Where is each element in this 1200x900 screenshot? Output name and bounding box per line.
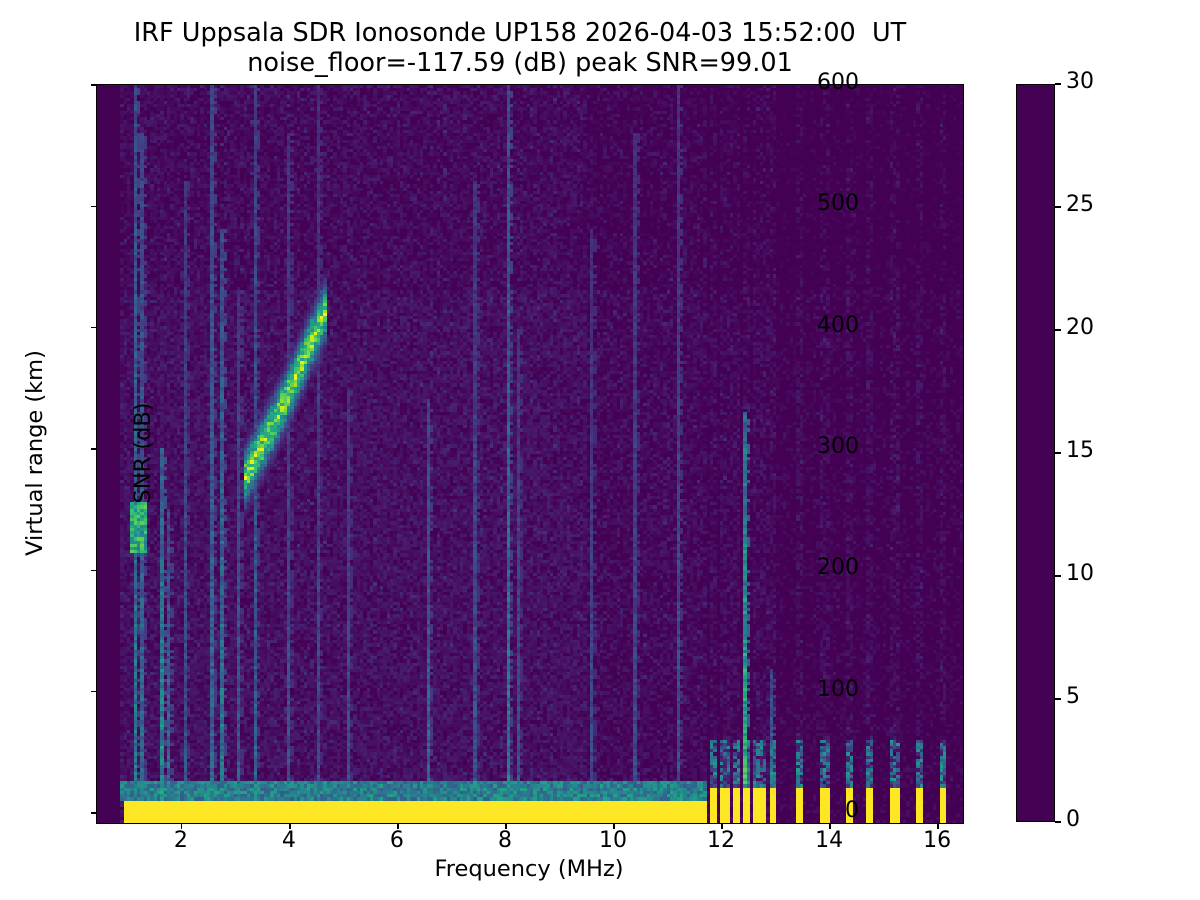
colorbar-tick-mark (1055, 821, 1061, 822)
y-axis-label: Virtual range (km) (22, 84, 48, 822)
y-tick-mark (91, 448, 97, 449)
x-tick-label: 6 (367, 828, 427, 853)
colorbar-tick-label: 0 (1066, 807, 1080, 832)
x-tick-label: 2 (151, 828, 211, 853)
x-tick-label: 10 (583, 828, 643, 853)
plot-area[interactable]: 0100200300400500600 (96, 84, 964, 824)
colorbar-tick-label: 20 (1066, 315, 1094, 340)
colorbar-tick-label: 25 (1066, 192, 1094, 217)
y-tick-label: 600 (817, 70, 859, 95)
y-tick-mark (91, 84, 97, 85)
x-tick-label: 12 (691, 828, 751, 853)
y-tick-label: 100 (817, 677, 859, 702)
y-tick-mark (91, 812, 97, 813)
colorbar-label: SNR (dB) (130, 84, 156, 822)
y-tick-mark (91, 206, 97, 207)
x-tick-label: 8 (475, 828, 535, 853)
colorbar-tick-label: 15 (1066, 438, 1094, 463)
colorbar-tick-mark (1055, 206, 1061, 207)
y-tick-label: 500 (817, 191, 859, 216)
colorbar-tick-mark (1055, 698, 1061, 699)
colorbar-tick-label: 30 (1066, 69, 1094, 94)
y-tick-mark (91, 327, 97, 328)
colorbar-tick-mark (1055, 329, 1061, 330)
colorbar[interactable]: 051015202530 (1016, 84, 1055, 822)
title-line-1: IRF Uppsala SDR Ionosonde UP158 2026-04-… (0, 18, 1040, 48)
colorbar-tick-label: 10 (1066, 561, 1094, 586)
ionogram-figure: IRF Uppsala SDR Ionosonde UP158 2026-04-… (0, 0, 1200, 900)
colorbar-tick-label: 5 (1066, 684, 1080, 709)
colorbar-gradient (1016, 84, 1055, 822)
title-line-2: noise_floor=-117.59 (dB) peak SNR=99.01 (0, 48, 1040, 78)
x-tick-label: 16 (907, 828, 967, 853)
y-tick-label: 400 (817, 313, 859, 338)
y-tick-mark (91, 570, 97, 571)
y-tick-label: 200 (817, 555, 859, 580)
colorbar-tick-mark (1055, 575, 1061, 576)
x-tick-label: 4 (259, 828, 319, 853)
y-tick-label: 0 (845, 798, 859, 823)
colorbar-tick-mark (1055, 83, 1061, 84)
x-tick-label: 14 (799, 828, 859, 853)
y-tick-mark (91, 691, 97, 692)
colorbar-tick-mark (1055, 452, 1061, 453)
x-axis-label: Frequency (MHz) (96, 856, 962, 882)
y-tick-label: 300 (817, 434, 859, 459)
figure-title: IRF Uppsala SDR Ionosonde UP158 2026-04-… (0, 18, 1040, 78)
